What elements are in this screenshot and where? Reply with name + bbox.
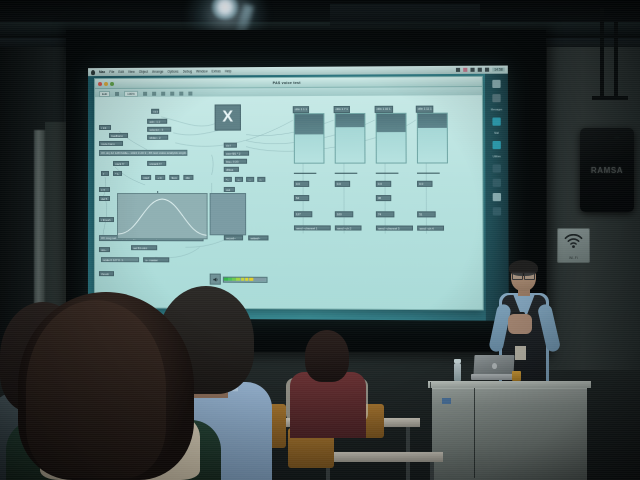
patch-object[interactable]: ftom xyxy=(169,175,179,180)
patch-object[interactable]: record~ xyxy=(224,235,243,240)
paper-cup xyxy=(512,371,521,381)
fader-readout-bar xyxy=(417,173,440,174)
patcher-canvas[interactable]: loadbang r init t b b adc~ 1 2 selector~… xyxy=(95,95,483,309)
patch-object[interactable]: mtof xyxy=(141,175,151,180)
fader-value-3[interactable]: 127 xyxy=(294,211,312,217)
patch-object[interactable]: + 0. xyxy=(155,175,165,180)
meter-segment xyxy=(241,278,245,281)
fader-send-object[interactable]: send ~channel 1 xyxy=(294,225,331,230)
menu-bar-spacer xyxy=(235,70,451,71)
patch-object[interactable]: t b f xyxy=(224,143,237,148)
meter-segment xyxy=(228,278,232,281)
document-icon[interactable] xyxy=(493,193,501,201)
laptop-base xyxy=(471,374,515,380)
water-bottle-cap xyxy=(454,359,461,363)
podium-worktop xyxy=(428,381,591,388)
fader-value-1[interactable]: 0.0 xyxy=(376,181,391,188)
door-frame-strip xyxy=(34,130,45,330)
desk-leg xyxy=(430,462,434,480)
speaker-icon[interactable] xyxy=(210,274,221,285)
pointer-icon[interactable] xyxy=(115,91,119,95)
patch-object[interactable]: line~ 0 20 xyxy=(224,159,247,164)
wifi-sign: Wi-Fi xyxy=(557,228,590,263)
battery-icon[interactable] xyxy=(478,68,482,72)
fader-track[interactable] xyxy=(376,113,407,164)
lecture-hall-photo: RAMSA Wi-Fi Max File Edit View Object Ar… xyxy=(0,0,640,480)
cable xyxy=(474,388,475,478)
patch-object[interactable]: * 1. xyxy=(113,171,122,176)
podium-label-plate xyxy=(442,398,451,404)
fader-value-3[interactable]: 51 xyxy=(417,211,436,218)
water-bottle xyxy=(454,363,461,381)
meter-segment xyxy=(249,278,253,281)
fader-column[interactable]: ctlin 1 1 1 0.0 64 127 send ~channel 1 xyxy=(293,106,326,242)
patch-object[interactable]: -~ xyxy=(246,177,254,182)
patch-object[interactable]: adc~ 1 2 xyxy=(147,119,167,124)
meter-segment xyxy=(224,278,228,281)
speaker-bracket-crossbar xyxy=(592,96,628,100)
input-source-icon[interactable] xyxy=(485,68,489,72)
fader-value-2[interactable]: 36 xyxy=(376,195,391,202)
menu-bar-status-area[interactable]: 14:58 xyxy=(456,68,505,72)
dock-label: Mail xyxy=(494,132,499,135)
patch-object[interactable]: r init xyxy=(99,125,111,130)
fader-fill xyxy=(418,114,447,129)
patch-object[interactable]: out xyxy=(224,187,235,192)
matrix-display[interactable] xyxy=(210,193,247,235)
level-meter-group[interactable] xyxy=(210,274,267,285)
fader-label: ctlin 1 10 1 xyxy=(375,106,393,113)
patch-object[interactable]: sfplay~ 2 xyxy=(147,135,168,140)
meter-segment xyxy=(232,278,236,281)
fader-value-1[interactable]: 0.0 xyxy=(335,181,350,187)
grid-icon[interactable] xyxy=(152,91,156,95)
patch-object[interactable]: t f f xyxy=(99,187,110,192)
patch-object[interactable]: thresh xyxy=(99,271,114,276)
menu-item-options[interactable]: Options xyxy=(167,68,178,76)
speaker-port xyxy=(614,136,620,139)
terminal-icon[interactable] xyxy=(493,164,501,172)
distribute-icon[interactable] xyxy=(179,91,183,95)
menu-item-window[interactable]: Window xyxy=(196,67,207,75)
fader-label: ctlin 1 1 1 xyxy=(293,106,309,113)
patch-object[interactable]: pack f f xyxy=(113,161,129,166)
wifi-icon xyxy=(564,234,583,249)
patch-object[interactable]: writesf~ xyxy=(248,235,268,240)
fader-send-object[interactable]: send ~channel 3 xyxy=(376,225,413,230)
apple-logo-icon xyxy=(492,363,497,369)
patch-object[interactable]: sig~ xyxy=(99,247,110,252)
patch-object[interactable]: del 5 xyxy=(99,196,110,201)
settings-icon[interactable] xyxy=(493,141,501,149)
meter-segment xyxy=(258,278,262,281)
patch-object[interactable]: expr $f1 * 2 xyxy=(224,151,249,156)
patch-object[interactable]: s~ master xyxy=(143,257,169,262)
audience-member-maroon-head xyxy=(305,330,349,382)
search-icon[interactable] xyxy=(492,118,500,126)
patch-object[interactable]: unpack f f xyxy=(147,161,166,166)
fader-label: ctlin 1 11 1 xyxy=(416,106,434,113)
wifi-sign-caption: Wi-Fi xyxy=(558,256,589,260)
patch-object[interactable]: dbtoa xyxy=(224,167,239,172)
audience-member-woman-hair-front xyxy=(26,300,166,478)
patch-object[interactable]: *~ xyxy=(224,177,232,182)
patch-message-box[interactable]: scale 0 127 0. 1. xyxy=(101,257,139,262)
fader-value-2[interactable]: 64 xyxy=(294,195,309,201)
fader-readout-bar xyxy=(335,173,358,174)
patcher-window[interactable]: PAS voice test Edit 100% xyxy=(94,76,484,311)
fader-label: ctlin 1 7 1 xyxy=(334,106,350,113)
dock-label: Utilities xyxy=(493,155,501,158)
eyeglasses-icon xyxy=(512,272,535,278)
toolbar-chip-zoom[interactable]: 100% xyxy=(124,90,138,96)
bluetooth-icon[interactable] xyxy=(456,68,460,72)
align-icon[interactable] xyxy=(170,91,174,95)
fader-send-object[interactable]: send ~ch 4 xyxy=(417,226,444,231)
patch-object[interactable]: route bang xyxy=(99,141,123,146)
patch-object[interactable]: set $1 print xyxy=(131,245,157,250)
fader-fill xyxy=(336,114,365,128)
meter-segment xyxy=(262,278,266,281)
speaker-brand-label: RAMSA xyxy=(580,166,634,175)
wifi-icon[interactable] xyxy=(470,68,474,72)
volume-icon[interactable] xyxy=(463,68,467,72)
menu-item-edit[interactable]: Edit xyxy=(118,68,124,76)
fader-readout-bar xyxy=(294,173,316,174)
meter-segment xyxy=(253,278,257,281)
close-patch-x-button[interactable]: X xyxy=(215,104,241,130)
folder-icon[interactable] xyxy=(493,179,501,187)
patch-object[interactable]: clip xyxy=(183,175,193,180)
fader-value-3[interactable]: 74 xyxy=(376,211,395,218)
fader-value-1[interactable]: 0.0 xyxy=(417,181,433,188)
menu-item-max[interactable]: Max xyxy=(99,68,105,76)
fader-send-object[interactable]: send ~ch 2 xyxy=(335,225,362,230)
speaker-bracket xyxy=(600,8,604,100)
dock-label: Messages xyxy=(491,108,502,111)
menu-item-help[interactable]: Help xyxy=(225,67,232,75)
speaker-port xyxy=(592,136,598,139)
fader-fill xyxy=(295,114,324,134)
fader-readout-bar xyxy=(376,173,399,174)
presenter-lanyard xyxy=(515,346,526,360)
patch-object[interactable]: /~ xyxy=(257,177,265,182)
desk-row-front xyxy=(318,452,443,462)
menu-item-arrange[interactable]: Arrange xyxy=(152,68,163,76)
fader-fill xyxy=(377,114,406,133)
patch-object[interactable]: f xyxy=(101,171,109,176)
patch-object[interactable]: selector~ 3 xyxy=(147,127,171,132)
wall-speaker: RAMSA xyxy=(580,128,634,212)
window-title: PAS voice test xyxy=(95,79,482,85)
trash-icon[interactable] xyxy=(493,207,501,215)
menu-item-view[interactable]: View xyxy=(128,68,135,76)
presenter-hands xyxy=(508,314,532,334)
level-meter[interactable] xyxy=(222,276,267,282)
patch-object[interactable]: +~ xyxy=(235,177,243,182)
patch-message-box[interactable]: #X obj 42 128 fiddle~ 1024 3 20 3 ; #X t… xyxy=(99,150,187,156)
speaker-bracket xyxy=(614,22,618,100)
function-graph[interactable] xyxy=(117,193,208,239)
podium xyxy=(432,386,587,480)
fader-column[interactable]: ctlin 1 7 1 0.0 100 send ~ch 2 xyxy=(334,106,367,242)
inspector-icon[interactable] xyxy=(188,91,192,95)
apple-icon[interactable] xyxy=(91,70,95,75)
ceiling-beam xyxy=(330,4,480,26)
menu-item-debug[interactable]: Debug xyxy=(183,68,192,76)
menu-bar-clock[interactable]: 14:58 xyxy=(492,68,504,72)
projected-image: Max File Edit View Object Arrange Option… xyxy=(88,66,509,321)
meter-segment xyxy=(245,278,249,281)
fader-track[interactable] xyxy=(335,113,366,164)
fader-column[interactable]: ctlin 1 10 1 0.0 36 74 send ~channel 3 xyxy=(375,106,408,242)
finder-icon[interactable] xyxy=(492,80,500,88)
toolbar-mode-chip[interactable]: Edit xyxy=(99,90,110,96)
mail-icon[interactable] xyxy=(492,94,500,102)
fader-track[interactable] xyxy=(417,113,448,164)
fader-column[interactable]: ctlin 1 11 1 0.0 51 send ~ch 4 xyxy=(416,106,449,242)
meter-segment xyxy=(237,278,241,281)
patch-object[interactable]: r thresh xyxy=(99,217,114,222)
patch-object[interactable]: loadbang xyxy=(109,133,128,138)
menu-item-extras[interactable]: Extras xyxy=(212,67,221,75)
menu-item-file[interactable]: File xyxy=(109,68,114,76)
menu-item-object[interactable]: Object xyxy=(139,68,148,76)
patcher-title-bar[interactable]: PAS voice test xyxy=(95,77,482,89)
patch-object[interactable]: t b b xyxy=(151,109,159,114)
fader-value-3[interactable]: 100 xyxy=(335,211,353,218)
fader-track[interactable] xyxy=(294,113,325,164)
snap-icon[interactable] xyxy=(161,91,165,95)
lock-icon[interactable] xyxy=(143,91,147,95)
fader-value-1[interactable]: 0.0 xyxy=(294,181,309,187)
